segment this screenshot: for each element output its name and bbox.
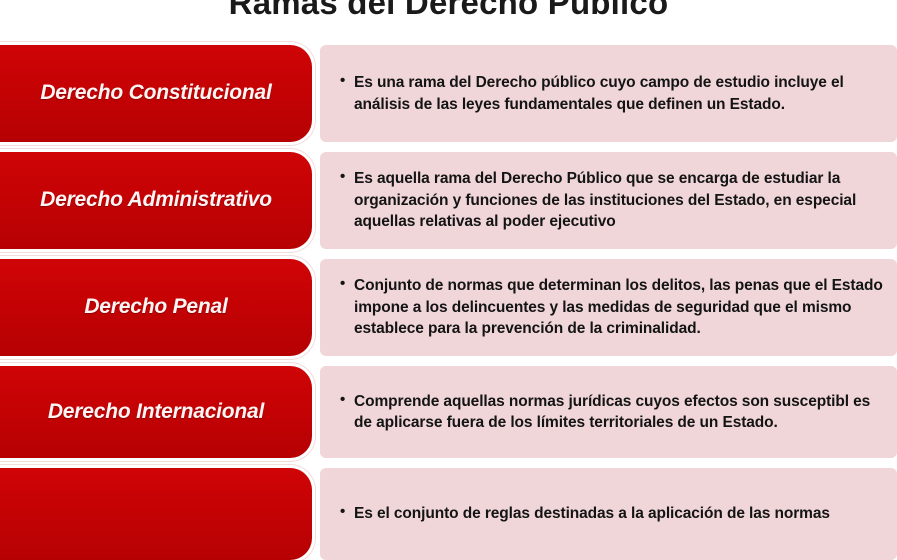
description-list: Es aquella rama del Derecho Público que …: [340, 168, 883, 232]
branch-label-internacional[interactable]: Derecho Internacional: [0, 366, 312, 458]
branch-label-text: Derecho Constitucional: [40, 81, 271, 105]
branch-label-partial[interactable]: [0, 468, 312, 560]
branch-row: Derecho Penal Conjunto de normas que det…: [0, 259, 897, 356]
branch-description-panel: Es una rama del Derecho público cuyo cam…: [320, 45, 897, 142]
description-item: Es aquella rama del Derecho Público que …: [340, 168, 883, 232]
page-title-clip: Ramas del Derecho Público: [0, 0, 897, 22]
description-list: Es una rama del Derecho público cuyo cam…: [340, 72, 883, 115]
branch-row: Es el conjunto de reglas destinadas a la…: [0, 468, 897, 560]
description-list: Conjunto de normas que determinan los de…: [340, 275, 883, 339]
branch-description-panel: Es el conjunto de reglas destinadas a la…: [320, 468, 897, 560]
branch-description-panel: Comprende aquellas normas jurídicas cuyo…: [320, 366, 897, 458]
branch-label-administrativo[interactable]: Derecho Administrativo: [0, 152, 312, 249]
description-item: Es una rama del Derecho público cuyo cam…: [340, 72, 883, 115]
branch-label-text: Derecho Administrativo: [40, 188, 272, 212]
branch-description-panel: Conjunto de normas que determinan los de…: [320, 259, 897, 356]
branch-label-text: Derecho Penal: [84, 295, 227, 319]
branch-row: Derecho Internacional Comprende aquellas…: [0, 366, 897, 458]
description-list: Es el conjunto de reglas destinadas a la…: [340, 503, 883, 524]
description-list: Comprende aquellas normas jurídicas cuyo…: [340, 391, 883, 434]
branch-label-penal[interactable]: Derecho Penal: [0, 259, 312, 356]
page-title: Ramas del Derecho Público: [0, 0, 897, 22]
branch-row: Derecho Constitucional Es una rama del D…: [0, 45, 897, 142]
branch-description-panel: Es aquella rama del Derecho Público que …: [320, 152, 897, 249]
branch-label-text: Derecho Internacional: [48, 400, 264, 424]
branch-row: Derecho Administrativo Es aquella rama d…: [0, 152, 897, 249]
branch-label-constitucional[interactable]: Derecho Constitucional: [0, 45, 312, 142]
branches-list: Derecho Constitucional Es una rama del D…: [0, 45, 897, 560]
description-item: Conjunto de normas que determinan los de…: [340, 275, 883, 339]
description-item: Es el conjunto de reglas destinadas a la…: [340, 503, 883, 524]
description-item: Comprende aquellas normas jurídicas cuyo…: [340, 391, 883, 434]
